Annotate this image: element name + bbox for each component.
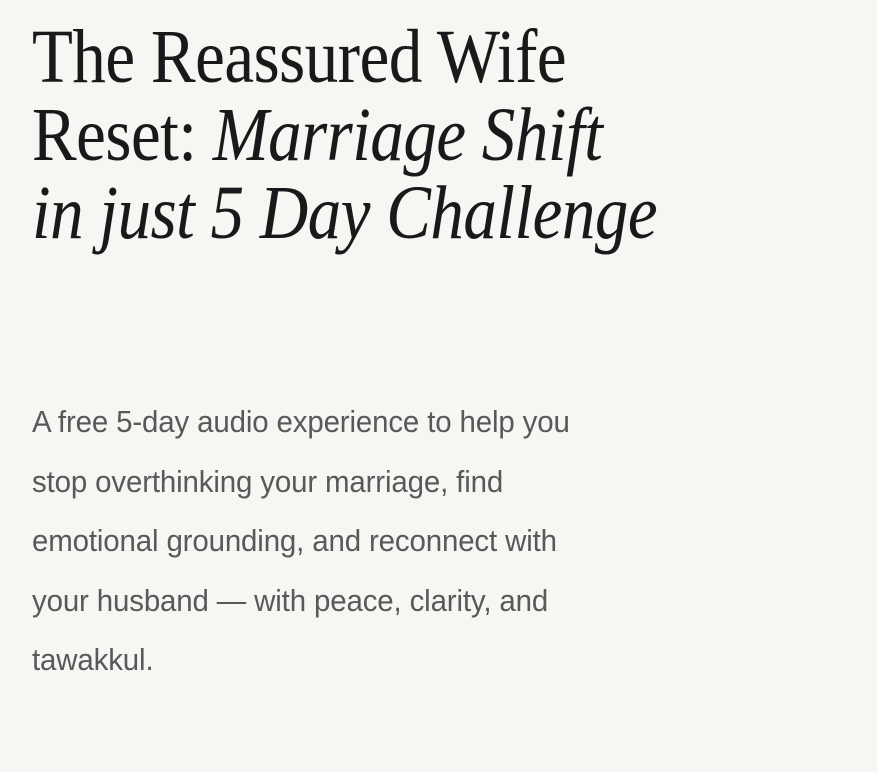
landing-page: The Reassured Wife Reset: Marriage Shift… [0,0,877,772]
page-subtitle: A free 5-day audio experience to help yo… [32,392,602,690]
hero-section: The Reassured Wife Reset: Marriage Shift… [32,18,832,252]
page-title: The Reassured Wife Reset: Marriage Shift… [32,18,666,252]
